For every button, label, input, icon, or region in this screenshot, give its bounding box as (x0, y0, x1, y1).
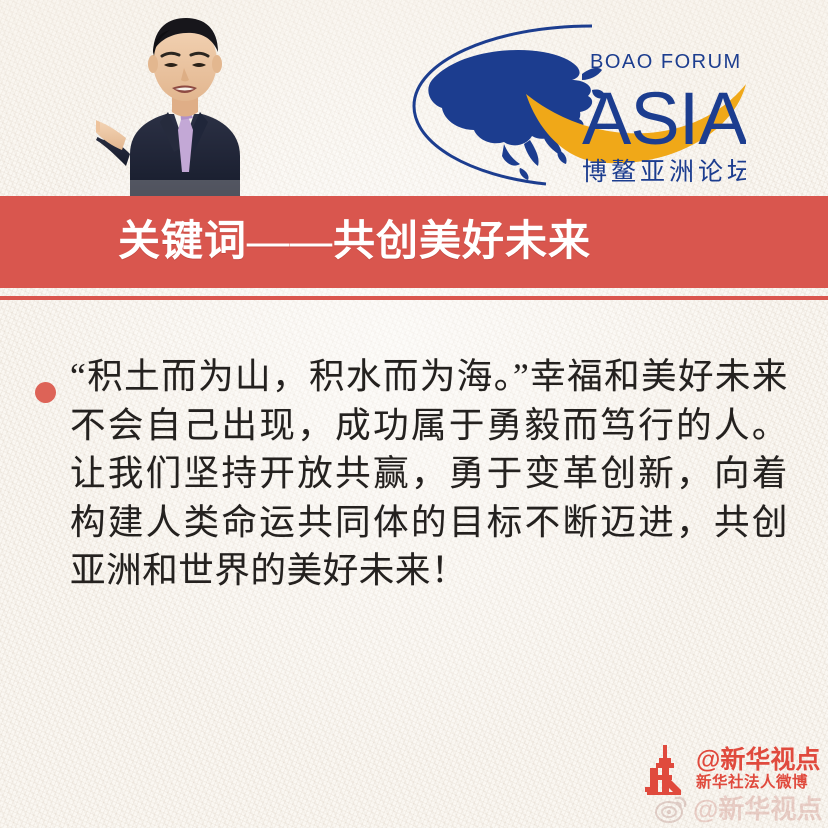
quote-paragraph: “积土而为山，积水而为海。”幸福和美好未来不会自己出现，成功属于勇毅而笃行的人。… (0, 352, 828, 595)
banner-title-text: 关键词——共创美好未来 (118, 221, 591, 263)
weibo-eye-icon (655, 794, 687, 824)
svg-text:BOAO FORUM FOR: BOAO FORUM FOR (590, 51, 746, 73)
xinhua-brand-text: @新华视点 新华社法人微博 (696, 745, 820, 792)
xinhua-branding: @新华视点 新华社法人微博 (640, 745, 828, 797)
xinhua-subtitle: 新华社法人微博 (696, 774, 820, 792)
poster-header: BOAO FORUM FOR ASIA 博鳌亚洲论坛 (0, 0, 828, 196)
weibo-watermark: @新华视点 (655, 792, 822, 826)
bullet-dot-icon (35, 382, 56, 403)
portrait-photo-speaker (96, 4, 272, 196)
quote-block: “积土而为山，积水而为海。”幸福和美好未来不会自己出现，成功属于勇毅而笃行的人。… (0, 352, 828, 595)
weibo-watermark-handle: @新华视点 (693, 794, 822, 824)
svg-text:ASIA: ASIA (582, 77, 746, 160)
keyword-title-banner: 关键词——共创美好未来 (0, 196, 828, 288)
xinhua-tower-mark-icon (640, 745, 692, 795)
logo-chinese-label: 博鳌亚洲论坛 (582, 158, 746, 186)
xinhua-handle: @新华视点 (696, 747, 820, 774)
poster-canvas: BOAO FORUM FOR ASIA 博鳌亚洲论坛 关键词——共创美好未来 “… (0, 0, 828, 828)
boao-forum-logo: BOAO FORUM FOR ASIA 博鳌亚洲论坛 (396, 18, 746, 186)
horizontal-rule (0, 296, 828, 300)
